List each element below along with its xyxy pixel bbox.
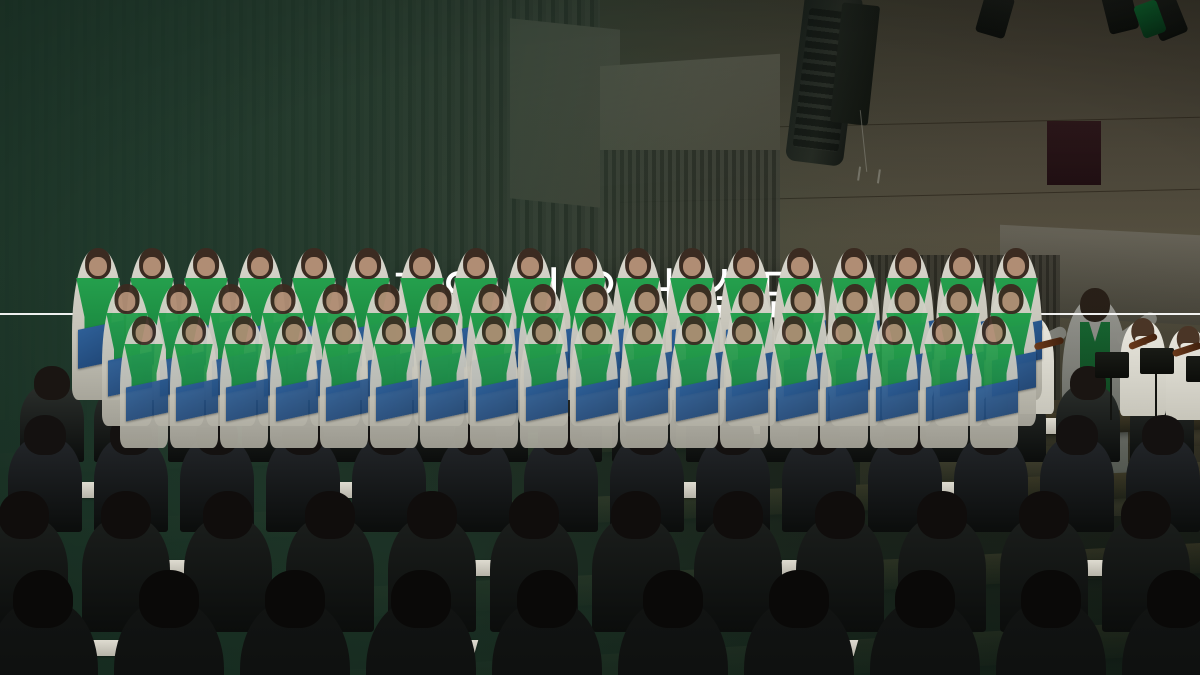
choir-member-face (953, 257, 971, 276)
choir-member (620, 318, 668, 448)
choir-member (670, 318, 718, 448)
congregation-member-head (643, 570, 703, 628)
choir-member-face (586, 292, 603, 311)
choir-member (520, 318, 568, 448)
choir-member-face (521, 257, 539, 276)
choir-member-face (186, 324, 203, 342)
choir-member (970, 318, 1018, 448)
choir-member-face (899, 257, 917, 276)
choir-member-face (534, 292, 551, 311)
choir-member-face (690, 292, 707, 311)
congregation-member-head (265, 570, 325, 628)
choir-member-face (986, 324, 1003, 342)
congregation-member-head (203, 491, 253, 539)
congregation-member-head (1056, 415, 1098, 455)
choir-member (320, 318, 368, 448)
congregation-member-head (917, 491, 967, 539)
choir-member-face (936, 324, 953, 342)
choir-member-face (586, 324, 603, 342)
congregation-member-head (101, 491, 151, 539)
congregation-member-head (1021, 570, 1081, 628)
choir-member-face (794, 292, 811, 311)
congregation-member-head (1019, 491, 1069, 539)
choir-member (770, 318, 818, 448)
choir-member-face (629, 257, 647, 276)
choir-member-face (386, 324, 403, 342)
background-photo (0, 0, 1200, 675)
title-slide: 그의 빛 안에 살면 IMMANUEL CHOIR (0, 0, 1200, 675)
choir-member-face (118, 292, 135, 311)
choir-member-face (305, 257, 323, 276)
choir-member-face (845, 257, 863, 276)
choir-member (720, 318, 768, 448)
choir-member-face (326, 292, 343, 311)
choir-member-face (436, 324, 453, 342)
congregation-member-head (13, 570, 73, 628)
choir-member-face (143, 257, 161, 276)
choir-member (570, 318, 618, 448)
congregation-member-head (305, 491, 355, 539)
choir-member (170, 318, 218, 448)
choir-member-face (222, 292, 239, 311)
choir-member (820, 318, 868, 448)
choir-member-face (413, 257, 431, 276)
choir-member-face (197, 257, 215, 276)
choir-member-face (950, 292, 967, 311)
choir-member-face (1002, 292, 1019, 311)
congregation-member-head (0, 491, 49, 539)
congregation-member-head (517, 570, 577, 628)
congregation-member-head (895, 570, 955, 628)
choir-member-face (575, 257, 593, 276)
choir-member-face (737, 257, 755, 276)
choir-member-face (274, 292, 291, 311)
choir-member-face (286, 324, 303, 342)
choir-member-face (736, 324, 753, 342)
choir-member-face (742, 292, 759, 311)
choir-member-face (482, 292, 499, 311)
choir-member-face (636, 324, 653, 342)
music-stand (1095, 352, 1129, 378)
choir-member-face (536, 324, 553, 342)
congregation-member-head (34, 366, 70, 400)
choir-member-face (378, 292, 395, 311)
congregation-member-head (1147, 570, 1200, 628)
choir-member-face (786, 324, 803, 342)
choir-member-face (836, 324, 853, 342)
congregation-member-head (139, 570, 199, 628)
choir-member-face (486, 324, 503, 342)
choir-member-face (467, 257, 485, 276)
choir-member (920, 318, 968, 448)
choir-member-face (136, 324, 153, 342)
music-stand (1186, 356, 1200, 382)
congregation-member-head (1121, 491, 1171, 539)
music-stand (1140, 348, 1174, 374)
choir-member-face (638, 292, 655, 311)
congregation-member-head (509, 491, 559, 539)
choir-member (270, 318, 318, 448)
congregation-member-head (713, 491, 763, 539)
choir-member-face (251, 257, 269, 276)
choir-member-face (236, 324, 253, 342)
congregation-member-head (815, 491, 865, 539)
choir-member (420, 318, 468, 448)
choir-member-face (686, 324, 703, 342)
congregation-member-head (407, 491, 457, 539)
congregation-member-head (769, 570, 829, 628)
congregation-member-head (24, 415, 66, 455)
choir-member-face (1007, 257, 1025, 276)
choir-member (470, 318, 518, 448)
choir-member-face (89, 257, 107, 276)
choir-member-face (683, 257, 701, 276)
congregation-member-head (391, 570, 451, 628)
choir-member (220, 318, 268, 448)
choir-member-face (846, 292, 863, 311)
choir-member-face (886, 324, 903, 342)
congregation-member-head (1142, 415, 1184, 455)
choir-member (120, 318, 168, 448)
congregation-member-head (611, 491, 661, 539)
choir-member (870, 318, 918, 448)
choir-member-face (791, 257, 809, 276)
choir-member-face (336, 324, 353, 342)
choir-member-face (898, 292, 915, 311)
choir-member-face (170, 292, 187, 311)
choir-member-face (359, 257, 377, 276)
choir-member-face (430, 292, 447, 311)
choir-member (370, 318, 418, 448)
